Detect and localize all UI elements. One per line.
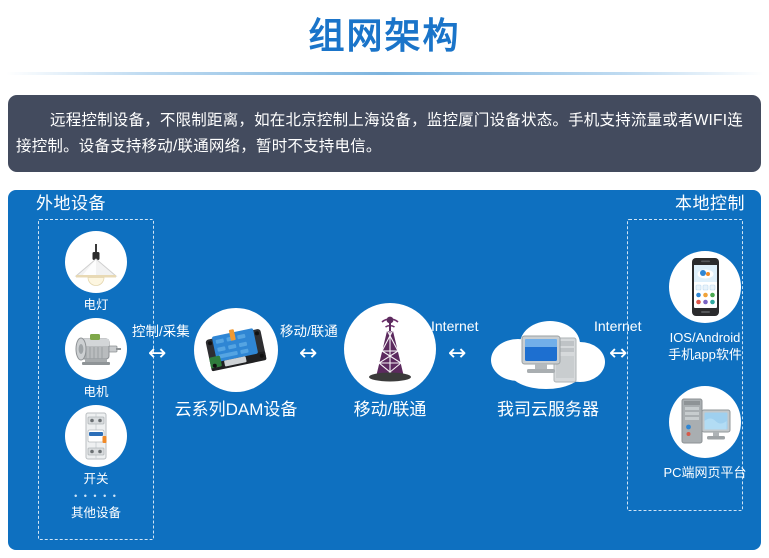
page-title: 组网架构 [308,18,460,54]
link-label-control-collect: 控制/采集 [132,320,190,340]
network-architecture-diagram: 外地设备 本地控制 电灯 [8,190,761,550]
dam-controller-icon [194,308,278,392]
node-label-dam-device: 云系列DAM设备 [166,402,306,418]
header-divider [6,72,763,75]
device-label-motor: 电机 [36,384,156,400]
description-banner: 远程控制设备，不限制距离，如在北京控制上海设备，监控厦门设备状态。手机支持流量或… [8,95,761,172]
node-label-carrier: 移动/联通 [330,402,450,418]
device-label-switch: 开关 [36,471,156,487]
description-text: 远程控制设备，不限制距离，如在北京控制上海设备，监控厦门设备状态。手机支持流量或… [16,108,751,160]
link-arrow-internet-1: ↔ [448,343,466,365]
cloud-server-icon [488,316,608,394]
link-label-internet-1: Internet [431,318,478,334]
link-arrow-mobile-unicom: ↔ [299,343,317,365]
client-label-mobile-app-line1: IOS/Android [650,329,760,346]
electric-motor-icon [65,318,127,380]
link-label-mobile-unicom: 移动/联通 [280,320,338,340]
client-label-pc-web-line1: PC端网页平台 [650,464,760,481]
device-label-light: 电灯 [36,297,156,313]
cell-tower-icon [344,303,436,395]
page-header: 组网架构 [0,0,769,72]
smartphone-icon [669,251,741,323]
node-label-cloud-server: 我司云服务器 [476,402,620,418]
desktop-computer-icon [669,386,741,458]
circuit-breaker-icon [65,405,127,467]
link-arrow-internet-2: ↔ [609,343,627,365]
ellipsis-dots: • • • • • [36,491,156,501]
zone-label-local-control: 本地控制 [675,189,745,214]
client-label-mobile-app-line2: 手机app软件 [650,346,760,363]
link-arrow-control-collect: ↔ [148,343,166,365]
zone-label-remote-devices: 外地设备 [36,189,106,214]
pendant-lamp-icon [65,231,127,293]
device-label-others: 其他设备 [36,505,156,521]
